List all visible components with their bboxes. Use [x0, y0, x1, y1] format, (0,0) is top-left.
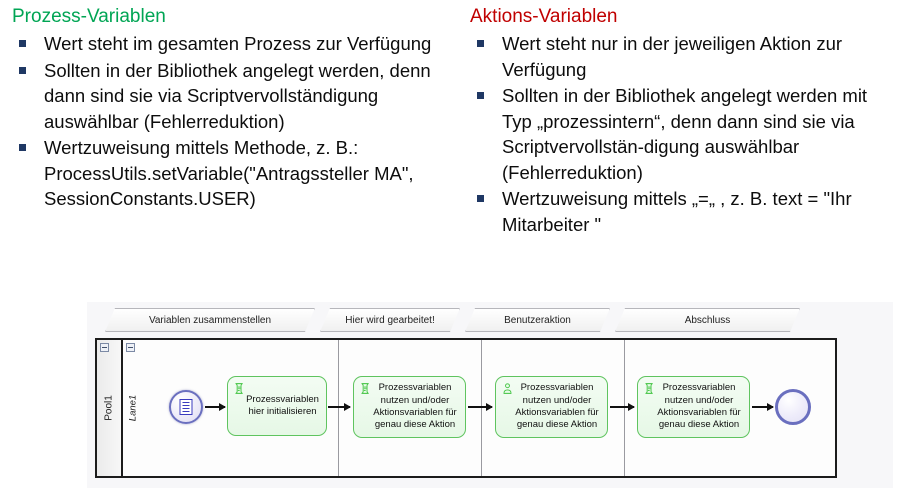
lane-header[interactable]: Lane1 — [123, 340, 143, 476]
phase-separator — [338, 340, 339, 476]
list-item: Wert steht nur in der jeweiligen Aktion … — [468, 31, 894, 82]
bullet-square-icon — [19, 67, 26, 74]
task-label: Prozessvariablen nutzen und/oder Aktions… — [654, 382, 744, 432]
bpmn-diagram: Variablen zusammenstellen Hier wird gear… — [87, 302, 893, 488]
bullet-square-icon — [477, 40, 484, 47]
task-label: Prozessvariablen hier initialisieren — [244, 394, 321, 419]
lane-collapse-icon[interactable] — [126, 343, 135, 352]
list-item: Sollten in der Bibliothek angelegt werde… — [10, 58, 452, 135]
action-variables-title: Aktions-Variablen — [470, 4, 894, 29]
task-use-variables-2[interactable]: Prozessvariablen nutzen und/oder Aktions… — [637, 376, 750, 438]
phase-banner-1[interactable]: Variablen zusammenstellen — [105, 308, 315, 332]
pool-label: Pool1 — [104, 395, 115, 421]
list-item-text: Wertzuweisung mittels Methode, z. B.: Pr… — [44, 135, 452, 212]
pool[interactable]: Pool1 Lane1 — [95, 338, 837, 478]
list-item: Wertzuweisung mittels Methode, z. B.: Pr… — [10, 135, 452, 212]
phase-banner-4[interactable]: Abschluss — [615, 308, 800, 332]
task-use-variables-1[interactable]: Prozessvariablen nutzen und/oder Aktions… — [353, 376, 466, 438]
comparison-columns: Prozess-Variablen Wert steht im gesamten… — [0, 0, 898, 300]
sequence-flow-arrow — [468, 406, 492, 408]
process-variables-title: Prozess-Variablen — [12, 4, 452, 29]
task-label: Prozessvariablen nutzen und/oder Aktions… — [370, 382, 460, 432]
script-icon — [359, 382, 372, 395]
bullet-square-icon — [477, 92, 484, 99]
list-item: Wert steht im gesamten Prozess zur Verfü… — [10, 31, 452, 57]
task-use-variables-user[interactable]: Prozessvariablen nutzen und/oder Aktions… — [495, 376, 608, 438]
phase-banner-row: Variablen zusammenstellen Hier wird gear… — [87, 308, 893, 334]
list-item-text: Wert steht im gesamten Prozess zur Verfü… — [44, 31, 452, 57]
form-icon — [180, 399, 193, 415]
bullet-square-icon — [19, 144, 26, 151]
task-label: Prozessvariablen nutzen und/oder Aktions… — [512, 382, 602, 432]
end-event[interactable] — [775, 389, 811, 425]
phase-separator — [624, 340, 625, 476]
script-icon — [643, 382, 656, 395]
list-item-text: Wert steht nur in der jeweiligen Aktion … — [502, 31, 894, 82]
action-variables-bullet-list: Wert steht nur in der jeweiligen Aktion … — [468, 31, 894, 237]
pool-header[interactable]: Pool1 — [97, 340, 123, 476]
pool-collapse-icon[interactable] — [100, 343, 109, 352]
list-item-text: Sollten in der Bibliothek angelegt werde… — [44, 58, 452, 135]
sequence-flow-arrow — [752, 406, 773, 408]
action-variables-column: Aktions-Variablen Wert steht nur in der … — [460, 0, 898, 300]
bullet-square-icon — [477, 195, 484, 202]
lane-label: Lane1 — [128, 395, 139, 421]
process-variables-column: Prozess-Variablen Wert steht im gesamten… — [0, 0, 460, 300]
start-event[interactable] — [169, 390, 203, 424]
phase-separator — [481, 340, 482, 476]
lane[interactable]: Lane1 — [123, 340, 835, 476]
phase-banner-3[interactable]: Benutzeraktion — [465, 308, 610, 332]
phase-banner-2[interactable]: Hier wird gearbeitet! — [320, 308, 460, 332]
bullet-square-icon — [19, 40, 26, 47]
task-initialize-process-variables[interactable]: Prozessvariablen hier initialisieren — [227, 376, 327, 436]
list-item: Sollten in der Bibliothek angelegt werde… — [468, 83, 894, 185]
sequence-flow-arrow — [328, 406, 350, 408]
list-item: Wertzuweisung mittels „=„ , z. B. text =… — [468, 186, 894, 237]
list-item-text: Wertzuweisung mittels „=„ , z. B. text =… — [502, 186, 894, 237]
process-variables-bullet-list: Wert steht im gesamten Prozess zur Verfü… — [10, 31, 452, 212]
sequence-flow-arrow — [610, 406, 634, 408]
script-icon — [233, 382, 246, 395]
lane-body: Prozessvariablen hier initialisieren Pro… — [143, 340, 835, 476]
user-icon — [501, 382, 514, 395]
list-item-text: Sollten in der Bibliothek angelegt werde… — [502, 83, 894, 185]
sequence-flow-arrow — [205, 406, 225, 408]
